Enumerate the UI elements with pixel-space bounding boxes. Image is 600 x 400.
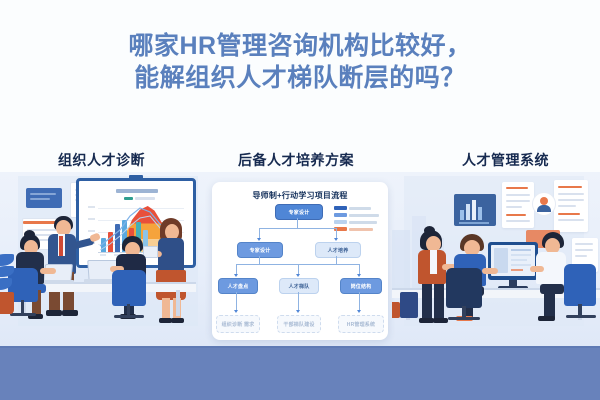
desktop-monitor [488, 242, 538, 280]
flow-node-r2-c2[interactable]: 人才培养 [315, 242, 361, 258]
wall-note-blue [26, 188, 62, 208]
legend-label-4 [349, 228, 373, 231]
legend-label-3 [349, 221, 377, 224]
flow-node-r4-c1[interactable]: 组织诊断 需求 [216, 315, 260, 333]
luggage-bag [400, 292, 418, 318]
legend-item-4 [334, 227, 373, 231]
plant-leaf [0, 254, 14, 266]
office-chair-2 [112, 270, 146, 306]
legend-swatch-3 [334, 220, 347, 224]
legend-swatch-1 [334, 206, 347, 210]
section-label-talent-management-system: 人才管理系统 [462, 150, 549, 170]
legend-label-1 [349, 207, 371, 210]
flow-node-r3-c3[interactable]: 岗位结构 [340, 278, 382, 294]
small-case [392, 302, 400, 318]
section-label-org-talent-diagnosis: 组织人才诊断 [58, 150, 145, 170]
headline-line-1: 哪家HR管理咨询机构比较好， [128, 32, 471, 60]
poster-avatar-icon [532, 192, 556, 216]
flow-node-r4-c2[interactable]: 干部梯队建设 [277, 315, 321, 333]
legend-swatch-2 [334, 213, 347, 217]
office-workstation-illustration [392, 172, 600, 348]
section-label-successor-development-plan: 后备人才培养方案 [238, 150, 354, 170]
floor-band [0, 348, 600, 400]
meeting-room-illustration [0, 172, 205, 348]
flow-node-r1-c1[interactable]: 专家设计 [275, 204, 323, 220]
legend-item-1 [334, 206, 371, 210]
flowchart-title: 导师制+行动学习项目流程 [212, 190, 388, 201]
headline-line-2: 能解组织人才梯队断层的吗？ [0, 62, 600, 94]
plant-pot [0, 292, 14, 314]
legend-label-2 [349, 214, 379, 217]
promo-banner: 哪家HR管理咨询机构比较好， 能解组织人才梯队断层的吗？ 组织人才诊断 后备人才… [0, 0, 600, 400]
illustration-band: 导师制+行动学习项目流程 专家设计 [0, 172, 600, 348]
flow-node-r3-c2[interactable]: 人才梯队 [279, 278, 319, 294]
flowchart-card: 导师制+行动学习项目流程 专家设计 [212, 182, 388, 340]
office-chair-4 [564, 264, 596, 306]
office-chair-3 [446, 268, 482, 308]
flow-node-r3-c1[interactable]: 人才盘点 [218, 278, 258, 294]
legend-item-3 [334, 220, 377, 224]
poster-doc-1 [502, 182, 534, 228]
flow-node-r4-c3[interactable]: HR管理系统 [338, 315, 384, 333]
poster-doc-2 [554, 180, 588, 232]
flow-node-r2-c1[interactable]: 专家设计 [237, 242, 283, 258]
legend-item-2 [334, 213, 379, 217]
page-title: 哪家HR管理咨询机构比较好， 能解组织人才梯队断层的吗？ [0, 30, 600, 94]
poster-chart [454, 194, 496, 226]
